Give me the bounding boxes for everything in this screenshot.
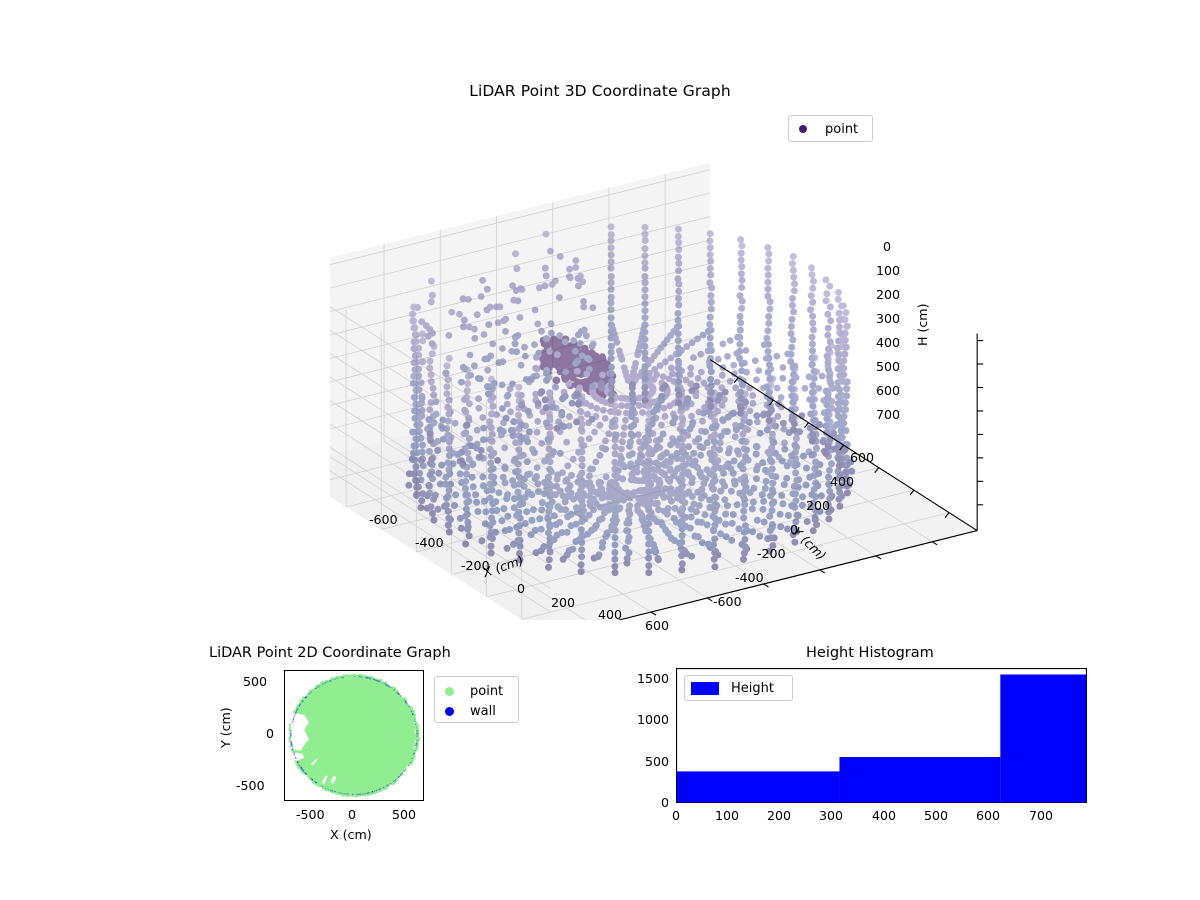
- tick-3d-h-300: 300: [876, 311, 900, 326]
- tick-3d-x-400: 400: [598, 607, 622, 622]
- legend-item-height[interactable]: Height: [685, 676, 792, 700]
- tick-hist-x-0: 0: [672, 808, 680, 823]
- tick-3d-y--400: -400: [735, 570, 764, 585]
- tick-hist-x-200: 200: [767, 808, 791, 823]
- tick-hist-x-100: 100: [715, 808, 739, 823]
- tick-hist-x-300: 300: [819, 808, 843, 823]
- legend-2d[interactable]: point wall: [434, 676, 519, 723]
- legend-hist[interactable]: Height: [684, 675, 793, 701]
- tick-hist-y-500: 500: [645, 754, 669, 769]
- tick-hist-y-1000: 1000: [637, 712, 669, 727]
- legend-marker-height-icon: [691, 682, 719, 695]
- matplotlib-figure: LiDAR Point 3D Coordinate Graph point -6…: [0, 0, 1200, 900]
- tick-2d-y-0: 0: [266, 726, 274, 741]
- legend-marker-wall-icon: [445, 707, 454, 716]
- legend-label-height: Height: [731, 681, 774, 696]
- tick-2d-x-0: 0: [348, 807, 356, 822]
- tick-3d-h-100: 100: [876, 263, 900, 278]
- tick-2d-x-500: 500: [392, 807, 416, 822]
- tick-3d-y-400: 400: [830, 474, 854, 489]
- legend-3d[interactable]: point: [788, 115, 873, 142]
- tick-3d-x-200: 200: [551, 595, 575, 610]
- tick-hist-y-0: 0: [661, 795, 669, 810]
- legend-item-wall[interactable]: wall: [443, 701, 510, 721]
- lidar-2d-scatter-plot: [284, 670, 424, 801]
- tick-3d-y--600: -600: [713, 594, 742, 609]
- legend-label-wall: wall: [470, 704, 496, 719]
- chart-3d-title: LiDAR Point 3D Coordinate Graph: [0, 82, 1200, 100]
- tick-3d-x--400: -400: [415, 535, 444, 550]
- tick-hist-x-700: 700: [1029, 808, 1053, 823]
- tick-3d-y-600: 600: [850, 450, 874, 465]
- legend-marker-point-icon: [799, 125, 807, 133]
- chart-hist-title: Height Histogram: [806, 645, 934, 661]
- legend-label-point: point: [825, 122, 858, 137]
- tick-2d-x--500: -500: [296, 807, 325, 822]
- tick-3d-h-400: 400: [876, 335, 900, 350]
- tick-3d-h-0: 0: [883, 239, 891, 254]
- tick-3d-y--200: -200: [757, 546, 786, 561]
- legend-item-point[interactable]: point: [443, 681, 510, 701]
- tick-hist-x-600: 600: [976, 808, 1000, 823]
- chart-2d-title: LiDAR Point 2D Coordinate Graph: [209, 645, 451, 661]
- tick-3d-x-0: 0: [517, 581, 525, 596]
- tick-3d-y-200: 200: [806, 498, 830, 513]
- tick-3d-h-500: 500: [876, 359, 900, 374]
- legend-label-point: point: [470, 684, 503, 699]
- axis-label-2d-x: X (cm): [330, 827, 372, 842]
- legend-item-point[interactable]: point: [797, 120, 864, 138]
- axis-label-3d-h: H (cm): [915, 304, 930, 347]
- axis-label-2d-y: Y (cm): [218, 707, 233, 748]
- tick-3d-x--600: -600: [369, 512, 398, 527]
- tick-3d-h-600: 600: [876, 383, 900, 398]
- tick-2d-y--500: -500: [236, 778, 265, 793]
- tick-3d-h-200: 200: [876, 287, 900, 302]
- tick-3d-x-600: 600: [645, 618, 669, 633]
- tick-hist-x-500: 500: [924, 808, 948, 823]
- tick-hist-y-1500: 1500: [637, 671, 669, 686]
- tick-3d-h-700: 700: [876, 407, 900, 422]
- tick-hist-x-400: 400: [872, 808, 896, 823]
- legend-marker-point-icon: [445, 687, 454, 696]
- tick-2d-y-500: 500: [243, 674, 267, 689]
